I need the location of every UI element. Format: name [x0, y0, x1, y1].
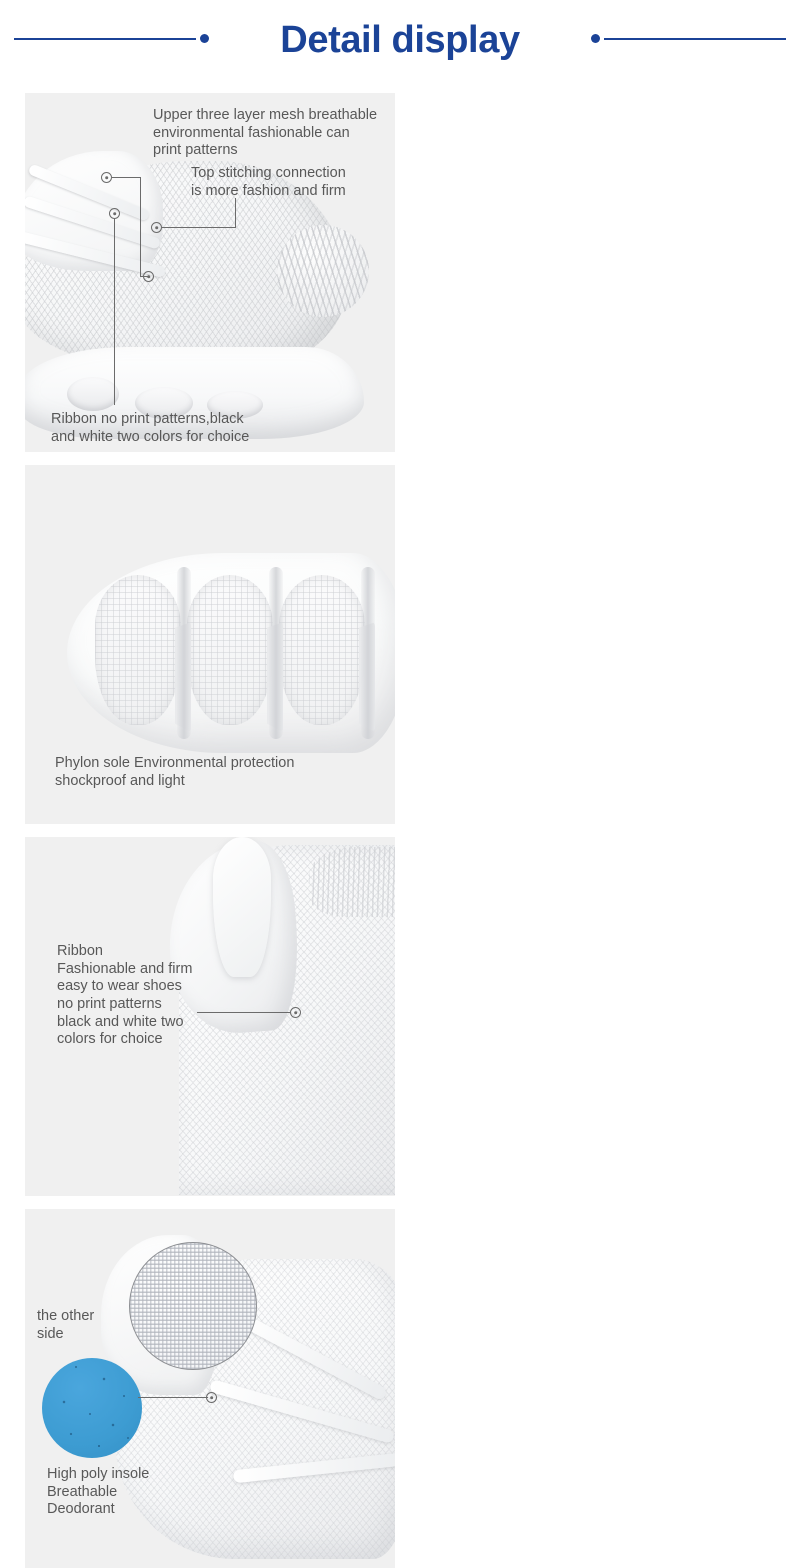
callout-marker-ribbon-tab[interactable]: [290, 1007, 301, 1018]
note-ribbon-colors: Ribbon no print patterns,black and white…: [51, 411, 351, 446]
decoration-line-icon: [604, 38, 786, 40]
callout-marker-midsole[interactable]: [143, 271, 154, 282]
decoration-dot-icon: [591, 34, 600, 43]
detail-panel-grid: Upper three layer mesh breathable enviro…: [25, 93, 779, 1568]
insole-swatch-circle: [42, 1358, 142, 1458]
callout-marker-stitching[interactable]: [151, 222, 162, 233]
leader-line: [162, 227, 236, 228]
panel-insole: the other side High poly insole Breathab…: [25, 1209, 395, 1568]
callout-marker-ribbon[interactable]: [109, 208, 120, 219]
leader-line: [112, 177, 141, 178]
note-top-stitching: Top stitching connection is more fashion…: [191, 165, 391, 200]
callout-marker-upper[interactable]: [101, 172, 112, 183]
callout-marker-insole[interactable]: [206, 1392, 217, 1403]
sole-groove: [177, 567, 191, 739]
sole-groove: [269, 567, 283, 739]
leader-line: [138, 1397, 208, 1398]
shoe-knit-collar: [309, 847, 395, 917]
note-phylon-sole: Phylon sole Environmental protection sho…: [55, 755, 385, 790]
panel-upper-mesh: Upper three layer mesh breathable enviro…: [25, 93, 395, 452]
sole-air-pod: [67, 377, 119, 411]
page-title: Detail display: [280, 21, 519, 59]
header-decoration-left: [14, 34, 209, 43]
panel-heel-ribbon: Ribbon Fashionable and firm easy to wear…: [25, 837, 395, 1196]
note-insole-spec: High poly insole Breathable Deodorant: [47, 1466, 227, 1519]
note-other-side: the other side: [37, 1308, 147, 1343]
header-decoration-right: [591, 34, 786, 43]
phylon-sole-photo: [67, 553, 395, 753]
decoration-line-icon: [14, 38, 196, 40]
stitching-detail-circle: [277, 225, 369, 317]
mesh-detail-circle: [129, 1242, 257, 1370]
leader-line: [140, 177, 141, 277]
panel-phylon-sole: Phylon sole Environmental protection sho…: [25, 465, 395, 824]
sole-groove: [361, 567, 375, 739]
decoration-dot-icon: [200, 34, 209, 43]
page-header: Detail display: [0, 0, 800, 80]
leader-line: [235, 198, 236, 227]
leader-line: [114, 219, 115, 405]
note-upper-mesh: Upper three layer mesh breathable enviro…: [153, 107, 393, 160]
note-ribbon-detail: Ribbon Fashionable and firm easy to wear…: [57, 943, 257, 1049]
